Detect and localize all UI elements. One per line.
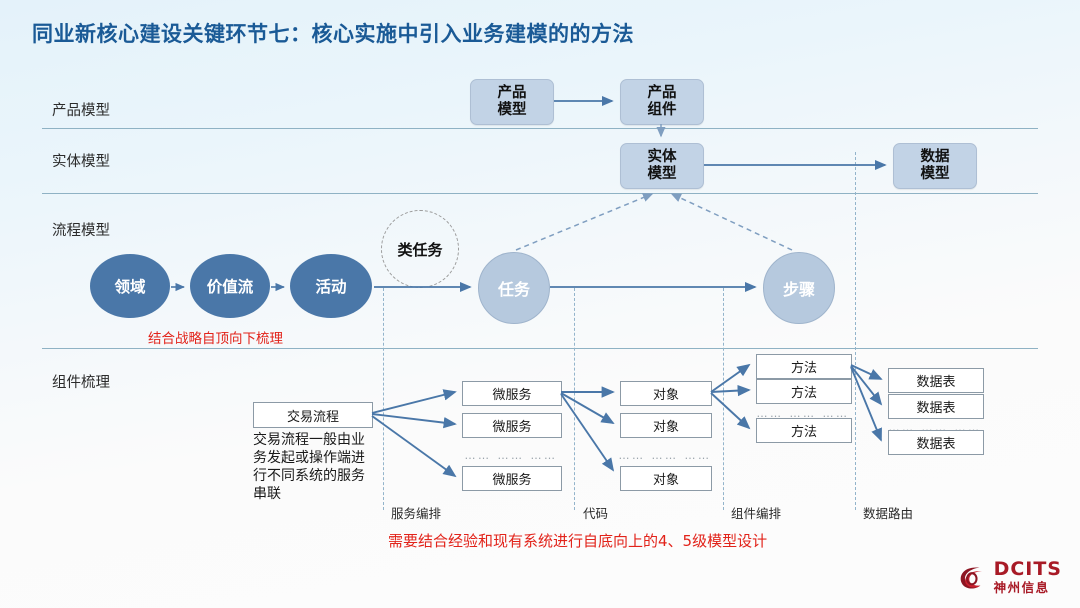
circle-task-class[interactable]: 类任务 [381, 210, 459, 288]
column-tag-service-orchestration: 服务编排 [391, 503, 441, 522]
box-data-table-1[interactable]: 数据表 [888, 368, 984, 393]
circle-step-label: 步骤 [783, 276, 815, 300]
row-label-entity-model: 实体模型 [52, 150, 110, 171]
column-tag-component-orchestration: 组件编排 [731, 503, 781, 522]
brand-logo: DCITS 神州信息 [954, 560, 1062, 595]
box-method-1[interactable]: 方法 [756, 354, 852, 379]
slide-canvas: 同业新核心建设关键环节七：核心实施中引入业务建模的的方法 产品模型 实体模型 流… [0, 0, 1080, 608]
box-method-3[interactable]: 方法 [756, 418, 852, 443]
logo-en-text: DCITS [994, 560, 1062, 579]
column-tag-code: 代码 [583, 503, 608, 522]
box-entity-model-text: 实体 模型 [648, 149, 677, 183]
row-label-component-review: 组件梳理 [52, 371, 110, 392]
memo-transaction-flow: 交易流程一般由业务发起或操作端进行不同系统的服务串联 [253, 432, 373, 504]
row-label-process-model: 流程模型 [52, 219, 110, 240]
circle-value-stream[interactable]: 价值流 [190, 254, 270, 318]
separator-component-orchestration [723, 288, 724, 510]
box-product-component[interactable]: 产品 组件 [620, 79, 704, 125]
column-tag-data-routing: 数据路由 [863, 503, 913, 522]
circle-domain[interactable]: 领域 [90, 254, 170, 318]
circle-value-stream-label: 价值流 [207, 275, 254, 297]
box-data-table-3[interactable]: 数据表 [888, 430, 984, 455]
box-object-3[interactable]: 对象 [620, 466, 712, 491]
box-data-table-2[interactable]: 数据表 [888, 394, 984, 419]
box-transaction-flow[interactable]: 交易流程 [253, 402, 373, 428]
divider-entity-process [42, 193, 1038, 194]
box-product-model[interactable]: 产品 模型 [470, 79, 554, 125]
box-microservice-3[interactable]: 微服务 [462, 466, 562, 491]
circle-step[interactable]: 步骤 [763, 252, 835, 324]
box-microservice-2[interactable]: 微服务 [462, 413, 562, 438]
separator-data-routing [855, 152, 856, 510]
divider-product-entity [42, 128, 1038, 129]
circle-activity-label: 活动 [315, 275, 346, 297]
note-top-down-strategy: 结合战略自顶向下梳理 [148, 327, 283, 347]
box-object-2[interactable]: 对象 [620, 413, 712, 438]
page-title: 同业新核心建设关键环节七：核心实施中引入业务建模的的方法 [32, 18, 634, 48]
dcits-mark-icon [954, 560, 988, 594]
box-data-model[interactable]: 数据 模型 [893, 143, 977, 189]
circle-task[interactable]: 任务 [478, 252, 550, 324]
box-product-component-text: 产品 组件 [648, 85, 677, 119]
box-object-1[interactable]: 对象 [620, 381, 712, 406]
box-microservice-1[interactable]: 微服务 [462, 381, 562, 406]
circle-task-class-label: 类任务 [397, 239, 442, 260]
separator-code [574, 288, 575, 510]
box-product-model-text: 产品 模型 [498, 85, 527, 119]
note-bottom-up-design: 需要结合经验和现有系统进行自底向上的4、5级模型设计 [388, 530, 767, 551]
box-data-model-text: 数据 模型 [921, 149, 950, 183]
box-method-2[interactable]: 方法 [756, 379, 852, 404]
circle-activity[interactable]: 活动 [290, 254, 372, 318]
divider-process-component [42, 348, 1038, 349]
separator-service-orchestration [383, 288, 384, 510]
ellipsis-microservice: …… …… …… [462, 448, 560, 462]
circle-domain-label: 领域 [114, 275, 145, 297]
row-label-product-model: 产品模型 [52, 99, 110, 120]
box-entity-model[interactable]: 实体 模型 [620, 143, 704, 189]
ellipsis-object: …… …… …… [620, 448, 710, 462]
circle-task-label: 任务 [498, 276, 530, 300]
logo-cn-text: 神州信息 [994, 582, 1062, 595]
